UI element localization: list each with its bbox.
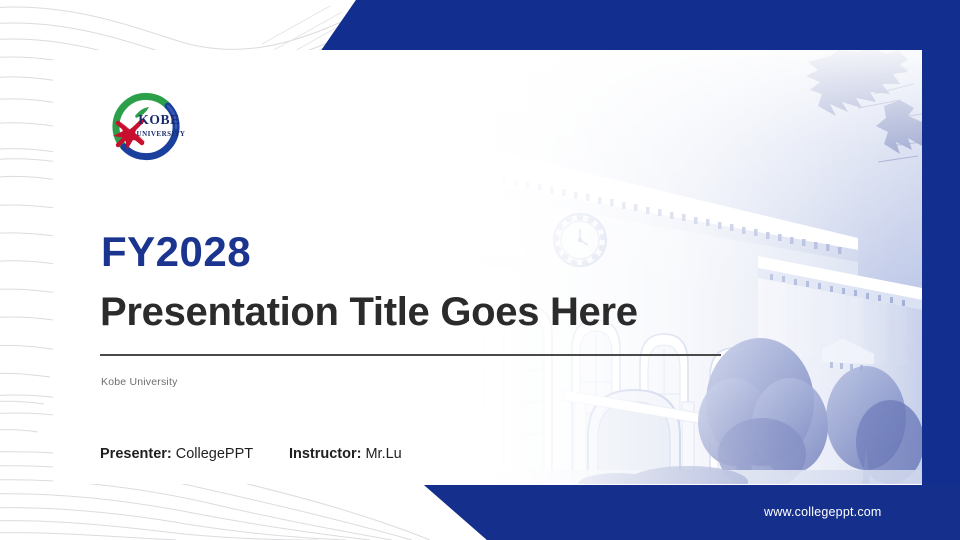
fiscal-year-heading: FY2028 xyxy=(101,228,251,276)
presentation-slide: KOBE UNIVERSITY FY2028 Presentation Titl… xyxy=(0,0,960,540)
presenter-value: CollegePPT xyxy=(176,446,253,462)
campus-building-photo xyxy=(438,50,922,484)
kobe-university-logo: KOBE UNIVERSITY xyxy=(105,86,197,168)
credits-line: Presenter: CollegePPT Instructor: Mr.Lu xyxy=(100,446,402,462)
instructor-value: Mr.Lu xyxy=(365,446,401,462)
presenter-label: Presenter: xyxy=(100,446,172,462)
content-card: KOBE UNIVERSITY FY2028 Presentation Titl… xyxy=(53,50,922,484)
page-title: Presentation Title Goes Here xyxy=(100,290,638,335)
logo-wordmark-kobe: KOBE xyxy=(138,112,179,127)
organization-name: Kobe University xyxy=(101,376,178,388)
instructor-label: Instructor: xyxy=(289,446,362,462)
logo-wordmark-university: UNIVERSITY xyxy=(137,130,186,138)
title-divider xyxy=(100,354,721,356)
footer-website-url[interactable]: www.collegeppt.com xyxy=(764,505,882,519)
